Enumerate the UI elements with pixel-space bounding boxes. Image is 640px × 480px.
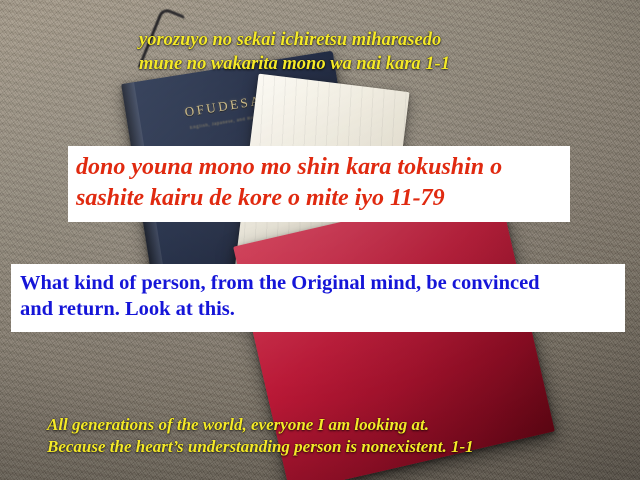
- caption-bottom-line-2: Because the heart’s understanding person…: [47, 436, 474, 458]
- caption-translation-line-2: and return. Look at this.: [20, 296, 619, 322]
- caption-top-romanized: yorozuyo no sekai ichiretsu miharasedo m…: [139, 28, 450, 76]
- caption-bottom-line-1: All generations of the world, everyone I…: [47, 414, 474, 436]
- caption-middle-romanized: dono youna mono mo shin kara tokushin o …: [68, 146, 570, 222]
- caption-middle-line-1: dono youna mono mo shin kara tokushin o: [76, 152, 564, 183]
- slide-canvas: OFUDESAKI English, Japanese, and Romaniz…: [0, 0, 640, 480]
- caption-top-line-1: yorozuyo no sekai ichiretsu miharasedo: [139, 28, 450, 52]
- caption-middle-line-2: sashite kairu de kore o mite iyo 11-79: [76, 183, 564, 214]
- caption-top-line-2: mune no wakarita mono wa nai kara 1-1: [139, 52, 450, 76]
- caption-translation-line-1: What kind of person, from the Original m…: [20, 270, 619, 296]
- caption-bottom-english: All generations of the world, everyone I…: [47, 414, 474, 458]
- caption-translation-english: What kind of person, from the Original m…: [11, 264, 625, 332]
